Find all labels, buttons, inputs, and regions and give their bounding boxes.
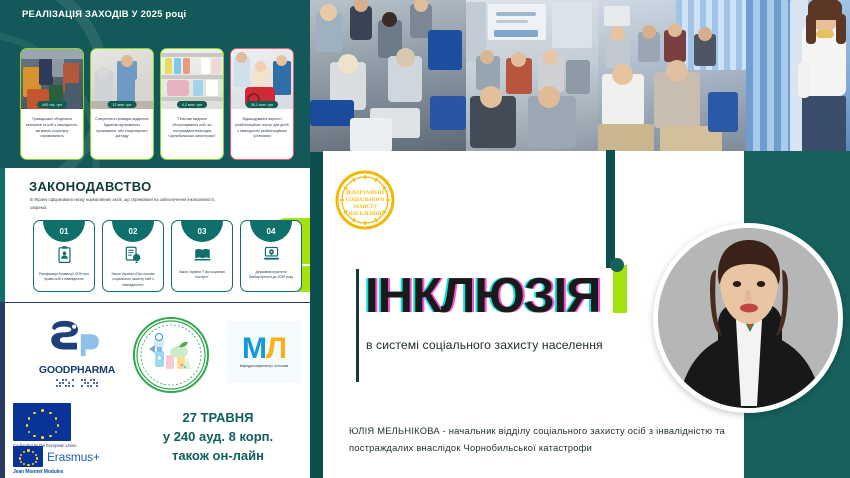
goodpharma-logo: GOODPHARMA — [27, 319, 127, 387]
card-photo-care — [91, 49, 153, 109]
card-amount-badge: 4,2 млн. грн — [177, 101, 207, 108]
ml-letter-m: М — [242, 332, 266, 365]
screen-share-view: РЕАЛІЗАЦІЯ ЗАХОДІВ У 2025 році — [0, 0, 850, 478]
card-photo-pharmacy — [161, 49, 223, 109]
open-book-icon — [194, 246, 211, 266]
marketing-logistics-logo: МЛ Кафедра маркетингу і логістики — [227, 321, 301, 383]
implementation-card: 440 тис. грн Громадськиx об'єднання вете… — [20, 48, 84, 160]
legislation-card-number: 03 — [181, 221, 223, 242]
implementation-title: РЕАЛІЗАЦІЯ ЗАХОДІВ У 2025 році — [22, 9, 186, 20]
ml-letter-l: Л — [266, 332, 286, 365]
card-description: "Пільгове медичне обслуговування осіб, я… — [161, 117, 223, 140]
video-tile-classroom-center[interactable] — [466, 0, 598, 152]
main-presentation-slide: ДЕПАРТАМЕНТ СОЦІАЛЬНОГО ЗАХИСТУ НАСЕЛЕНН… — [323, 151, 850, 478]
legislation-card-list: 01 Ратифікація Конвенції ООН про права о… — [33, 220, 302, 292]
legislation-card: 04 Державна стратегія безбар'єрності до … — [240, 220, 302, 292]
announcement-online: також он-лайн — [123, 447, 310, 466]
marketing-logistics-mark: МЛ — [242, 336, 286, 362]
erasmus-flag-icon — [13, 446, 43, 467]
slide-subtitle: в системі соціального захисту населення — [366, 336, 616, 355]
legislation-card-text: Закон України "Про соціальні послуги" — [172, 270, 232, 281]
goodpharma-mark-icon — [48, 319, 106, 359]
title-accent-rule — [356, 269, 359, 382]
legislation-card-number: 04 — [250, 221, 292, 242]
eu-funding-logo: Co-funded by the European Union — [13, 403, 109, 449]
seal-line2: СОЦІАЛЬНОГО — [346, 198, 385, 203]
card-amount-badge: 12 млн. грн — [108, 101, 137, 108]
braille-pharma — [81, 379, 99, 387]
event-announcement: 27 ТРАВНЯ у 240 ауд. 8 корп. також он-ла… — [123, 409, 310, 466]
legislation-card-number: 02 — [112, 221, 154, 242]
slide-implementation: РЕАЛІЗАЦІЯ ЗАХОДІВ У 2025 році — [0, 0, 310, 168]
legislation-card-text: Ратифікація Конвенції ООН про права осіб… — [34, 272, 94, 283]
department-seal-icon: ДЕПАРТАМЕНТ СОЦІАЛЬНОГО ЗАХИСТУ НАСЕЛЕНН… — [334, 169, 396, 231]
shared-deck-pane: РЕАЛІЗАЦІЯ ЗАХОДІВ У 2025 році — [0, 0, 310, 478]
video-tile-classroom-left[interactable] — [310, 0, 466, 152]
goodpharma-wordmark: GOODPHARMA — [27, 364, 127, 376]
announcement-room: у 240 ауд. 8 корп. — [123, 428, 310, 447]
legislation-card: 01 Ратифікація Конвенції ООН про права о… — [33, 220, 95, 292]
slide-logos-announcement: GOODPHARMA — [0, 302, 310, 478]
implementation-card: 4,2 млн. грн "Пільгове медичне обслугову… — [160, 48, 224, 160]
pharmacy-department-seal — [133, 317, 209, 393]
implementation-card: 30,1 млн. грн Відшкодування вартості реа… — [230, 48, 294, 160]
goodpharma-word-pharma: PHARMA — [70, 364, 115, 376]
presenter-caption: ЮЛІЯ МЕЛЬНІКОВА - начальник відділу соці… — [349, 423, 769, 456]
erasmus-logo: Erasmus+ Jean Monnet Modules — [13, 446, 123, 475]
legislation-card-number: 01 — [43, 221, 85, 242]
video-tile-speaker[interactable] — [746, 0, 850, 152]
decor-teal-edge — [606, 150, 615, 268]
seal-line3: ЗАХИСТУ — [353, 205, 378, 210]
legislation-card-text: Закон України «Про основи соціального за… — [103, 272, 163, 288]
eu-flag-icon — [13, 403, 71, 441]
legislation-title: ЗАКОНОДАВСТВО — [29, 179, 152, 194]
slide-title: ІНКЛЮЗІЯ — [365, 273, 600, 320]
clipboard-person-icon — [57, 246, 72, 268]
card-photo-rehab — [231, 49, 293, 109]
slide-legislation: ЗАКОНОДАВСТВО В Україні сформовано низку… — [0, 168, 310, 302]
legislation-card-text: Державна стратегія безбар'єрності до 203… — [241, 270, 301, 281]
decor-teal-dot — [610, 258, 624, 272]
card-amount-badge: 30,1 млн. грн — [246, 101, 278, 108]
braille-good — [56, 379, 74, 387]
implementation-card: 12 млн. грн Створення в громадах відділе… — [90, 48, 154, 160]
legislation-card: 03 Закон України "Про соціальні послуги" — [171, 220, 233, 292]
document-seal-icon — [125, 246, 141, 268]
legislation-card: 02 Закон України «Про основи соціального… — [102, 220, 164, 292]
legislation-subtitle: В Україні сформовано низку нормативних а… — [30, 196, 225, 212]
erasmus-subtitle: Jean Monnet Modules — [13, 469, 123, 475]
video-tile-classroom-right[interactable] — [598, 0, 746, 152]
braille-strip — [27, 379, 127, 387]
seal-line4: НАСЕЛЕННЯ — [349, 212, 382, 217]
card-description: Створення в громадах відділень/будинків … — [91, 117, 153, 140]
presenter-portrait — [653, 223, 843, 413]
presentation-pane: ДЕПАРТАМЕНТ СОЦІАЛЬНОГО ЗАХИСТУ НАСЕЛЕНН… — [310, 0, 850, 478]
announcement-date: 27 ТРАВНЯ — [123, 409, 310, 428]
decor-green-edge — [613, 265, 627, 313]
card-description: Відшкодування вартості реабілітаційних п… — [231, 117, 293, 140]
laptop-location-icon — [263, 246, 280, 266]
implementation-card-list: 440 тис. грн Громадськиx об'єднання вете… — [20, 48, 294, 160]
card-photo-veterans — [21, 49, 83, 109]
card-description: Громадськиx об'єднання ветеранів та осіб… — [21, 117, 83, 140]
marketing-logistics-caption: Кафедра маркетингу і логістики — [240, 364, 288, 368]
seal-line1: ДЕПАРТАМЕНТ — [345, 191, 385, 196]
erasmus-wordmark: Erasmus+ — [47, 450, 100, 464]
card-amount-badge: 440 тис. грн — [37, 101, 67, 108]
goodpharma-word-good: GOOD — [39, 364, 70, 376]
